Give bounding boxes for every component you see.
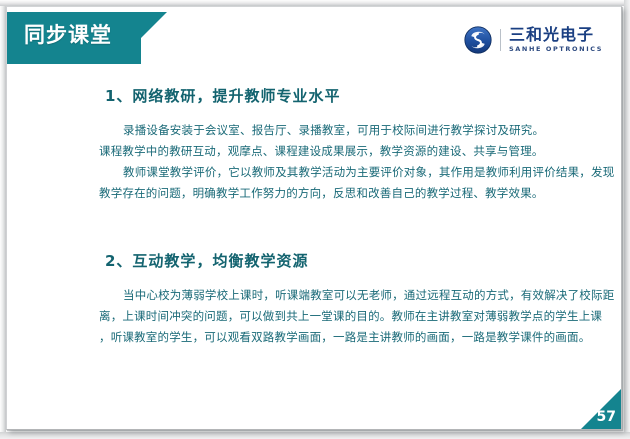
slide-canvas: 同步课堂 三和光电子 SANHE OPTRONICS 1、网络教研， bbox=[6, 6, 622, 430]
title-banner-diagonal-wedge bbox=[115, 12, 167, 64]
section-1-heading: 1、网络教研，提升教师专业水平 bbox=[105, 85, 622, 106]
logo-divider bbox=[500, 29, 501, 51]
slide-content: 1、网络教研，提升教师专业水平 录播设备安装于会议室、报告厅、录播教室，可用于校… bbox=[7, 85, 622, 352]
section-1-line-2: 课程教学中的教研互动，观摩点、课程建设成果展示，教学资源的建设、共享与管理。 bbox=[99, 141, 565, 162]
window-gutter-right bbox=[624, 0, 630, 439]
section-1: 1、网络教研，提升教师专业水平 录播设备安装于会议室、报告厅、录播教室，可用于校… bbox=[7, 85, 622, 204]
section-2-line-2: 离，上课时间冲突的问题，可以做到共上一堂课的目的。教师在主讲教室对薄弱教学点的学… bbox=[99, 306, 565, 327]
logo-name-en: SANHE OPTRONICS bbox=[509, 46, 603, 53]
logo-name-cn: 三和光电子 bbox=[509, 27, 603, 43]
section-1-line-4: 教学存在的问题，明确教学工作努力的方向，反思和改善自己的教学过程、教学效果。 bbox=[99, 183, 565, 204]
page-number: 57 bbox=[597, 409, 616, 425]
section-2-line-1: 当中心校为薄弱学校上课时，听课端教室可以无老师，通过远程互动的方式，有效解决了校… bbox=[99, 285, 565, 306]
section-1-line-1: 录播设备安装于会议室、报告厅、录播教室，可用于校际间进行教学探讨及研究。 bbox=[99, 120, 565, 141]
section-2: 2、互动教学，均衡教学资源 当中心校为薄弱学校上课时，听课端教室可以无老师，通过… bbox=[7, 250, 622, 348]
section-2-heading: 2、互动教学，均衡教学资源 bbox=[105, 250, 622, 271]
section-1-body: 录播设备安装于会议室、报告厅、录播教室，可用于校际间进行教学探讨及研究。 课程教… bbox=[99, 120, 565, 204]
window-gutter-bottom bbox=[0, 432, 630, 439]
sanhe-emblem-icon bbox=[464, 26, 492, 54]
logo-text-block: 三和光电子 SANHE OPTRONICS bbox=[509, 27, 603, 53]
section-2-body: 当中心校为薄弱学校上课时，听课端教室可以无老师，通过远程互动的方式，有效解决了校… bbox=[99, 285, 565, 348]
section-spacer bbox=[7, 208, 622, 250]
company-logo: 三和光电子 SANHE OPTRONICS bbox=[464, 26, 603, 54]
section-1-line-3: 教师课堂教学评价，它以教师及其教学活动为主要评价对象，其作用是教师利用评价结果，… bbox=[99, 162, 565, 183]
slide-title: 同步课堂 bbox=[24, 21, 112, 49]
section-2-line-3: ，听课教室的学生，可以观看双路教学画面，一路是主讲教师的画面，一路是教学课件的画… bbox=[99, 327, 565, 348]
